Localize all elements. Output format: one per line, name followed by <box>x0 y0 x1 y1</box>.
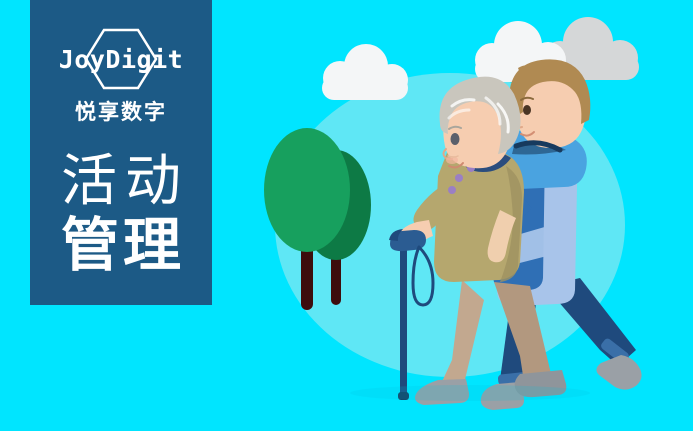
page-title: 活动 管理 <box>53 152 189 277</box>
woman-button <box>455 174 463 182</box>
man-eye <box>523 105 531 115</box>
logo-subtitle: 悦享数字 <box>75 96 167 126</box>
brand-title-panel: JoyDigit 悦享数字 活动 管理 <box>30 0 212 305</box>
ground-shadow <box>350 385 590 401</box>
woman-button <box>448 186 456 194</box>
logo: JoyDigit <box>46 28 196 90</box>
page-title-line1: 活动 <box>53 152 189 212</box>
logo-wordmark: JoyDigit <box>59 45 183 74</box>
woman-eye <box>451 133 460 145</box>
poster-canvas: JoyDigit 悦享数字 活动 管理 <box>0 0 693 431</box>
page-title-line2: 管理 <box>53 214 189 277</box>
